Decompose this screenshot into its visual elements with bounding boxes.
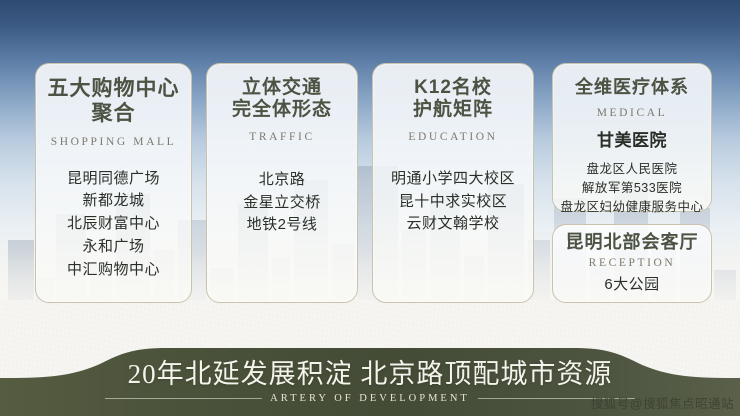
card-highlight: 甘美医院 xyxy=(553,119,711,154)
watermark: 搜狐号@搜狐焦点昭通站 xyxy=(591,393,734,412)
banner-subtitle: ARTERY OF DEVELOPMENT xyxy=(262,393,478,404)
rule-left xyxy=(105,398,262,399)
card-item-list: 昆明同德广场 新都龙城 北辰财富中心 永和广场 中汇购物中心 xyxy=(36,148,191,282)
card-education: K12名校 护航矩阵 EDUCATION 明通小学四大校区 昆十中求实校区 云财… xyxy=(372,63,534,303)
card-title: 全维医疗体系 xyxy=(553,64,711,98)
banner-title: 20年北延发展积淀 北京路顶配城市资源 xyxy=(128,361,613,388)
card-title: 昆明北部会客厅 xyxy=(553,225,711,253)
card-item-list: 6大公园 xyxy=(553,269,711,297)
card-medical: 全维医疗体系 MEDICAL 甘美医院 盘龙区人民医院 解放军第533医院 盘龙… xyxy=(552,63,712,212)
card-reception: 昆明北部会客厅 RECEPTION 6大公园 xyxy=(552,224,712,303)
card-subtitle: RECEPTION xyxy=(553,253,711,269)
card-item-list: 北京路 金星立交桥 地铁2号线 xyxy=(207,143,357,237)
card-subtitle: EDUCATION xyxy=(373,122,533,143)
card-traffic: 立体交通 完全体形态 TRAFFIC 北京路 金星立交桥 地铁2号线 xyxy=(206,63,358,303)
card-shopping-mall: 五大购物中心 聚合 SHOPPING MALL 昆明同德广场 新都龙城 北辰财富… xyxy=(35,63,192,303)
card-subtitle: MEDICAL xyxy=(553,98,711,119)
card-item-list: 盘龙区人民医院 解放军第533医院 盘龙区妇幼健康服务中心 xyxy=(553,154,711,217)
card-title: 立体交通 完全体形态 xyxy=(207,64,357,122)
poster-root: 五大购物中心 聚合 SHOPPING MALL 昆明同德广场 新都龙城 北辰财富… xyxy=(0,0,740,416)
banner-subtitle-row: ARTERY OF DEVELOPMENT xyxy=(105,393,635,404)
card-title: K12名校 护航矩阵 xyxy=(373,64,533,122)
feature-cards: 五大购物中心 聚合 SHOPPING MALL 昆明同德广场 新都龙城 北辰财富… xyxy=(0,0,740,330)
card-subtitle: TRAFFIC xyxy=(207,122,357,143)
card-subtitle: SHOPPING MALL xyxy=(36,127,191,148)
card-title: 五大购物中心 聚合 xyxy=(36,64,191,127)
card-item-list: 明通小学四大校区 昆十中求实校区 云财文翰学校 xyxy=(373,143,533,236)
